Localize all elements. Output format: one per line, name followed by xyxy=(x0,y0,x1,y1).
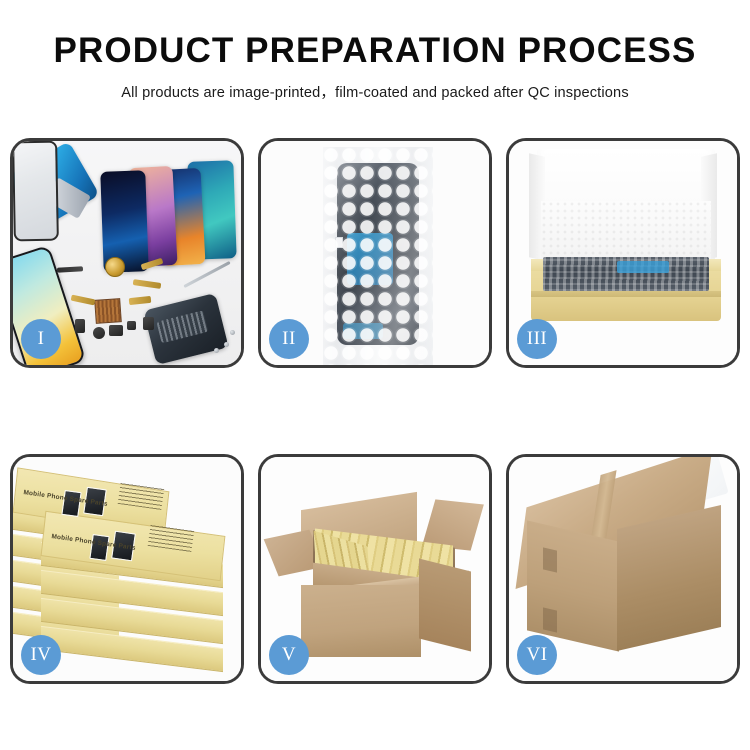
step-panel-ii: II xyxy=(258,138,492,368)
step-badge-i: I xyxy=(21,319,61,359)
header: PRODUCT PREPARATION PROCESS All products… xyxy=(0,32,750,102)
copper-grid-component-graphic xyxy=(94,298,122,324)
screw-graphic-2 xyxy=(214,348,219,353)
screw-graphic-1 xyxy=(224,342,229,347)
step-badge-v: V xyxy=(269,635,309,675)
coil-component-graphic xyxy=(105,257,125,277)
step-badge-ii: II xyxy=(269,319,309,359)
carton-side-face-graphic xyxy=(419,559,471,652)
phone-graphic-2 xyxy=(100,170,148,273)
step-badge-iii: III xyxy=(517,319,557,359)
step-panel-iii: III xyxy=(506,138,740,368)
small-part-graphic-3 xyxy=(127,321,136,330)
step-badge-iv: IV xyxy=(21,635,61,675)
step-panel-iv: Mobile Phone Spare Parts Mobile Phone Sp… xyxy=(10,454,244,684)
step-panel-i: I xyxy=(10,138,244,368)
small-part-graphic-4 xyxy=(93,327,105,339)
carton-seam-graphic-1 xyxy=(543,547,557,572)
plastic-sheen-overlay xyxy=(323,147,433,365)
step-panel-vi: VI xyxy=(506,454,740,684)
process-steps-grid: I II xyxy=(10,138,740,684)
page-subtitle: All products are image-printed，film-coat… xyxy=(0,81,750,102)
box-front-lip-graphic xyxy=(531,291,721,297)
carton-seam-graphic-2 xyxy=(543,607,557,632)
page-title: PRODUCT PREPARATION PROCESS xyxy=(0,32,750,70)
small-part-graphic-1 xyxy=(75,319,85,333)
small-part-graphic-5 xyxy=(143,317,154,330)
screen-protector-graphic xyxy=(13,141,59,241)
packed-product-graphic xyxy=(543,257,709,291)
step-panel-v: V xyxy=(258,454,492,684)
sealed-carton-left-face xyxy=(527,520,619,651)
carton-front-face-graphic xyxy=(301,585,421,657)
sealed-carton-right-face xyxy=(617,505,721,651)
step-badge-vi: VI xyxy=(517,635,557,675)
product-preparation-infographic: PRODUCT PREPARATION PROCESS All products… xyxy=(0,0,750,750)
screw-graphic-3 xyxy=(230,330,235,335)
small-part-graphic-2 xyxy=(109,325,123,336)
